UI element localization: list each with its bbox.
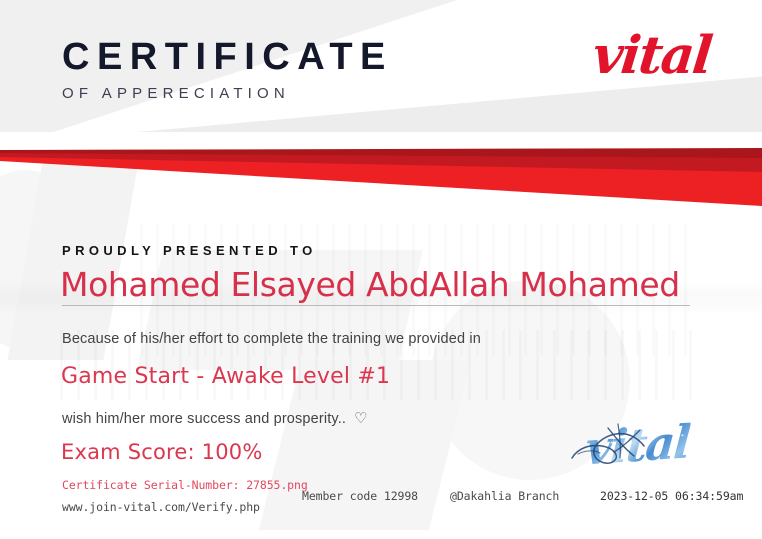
certificate-page: CERTIFICATE OF APPERECIATION vital PROUD… bbox=[0, 0, 762, 539]
handwritten-signature-icon bbox=[556, 414, 726, 488]
wish-text-row: wish him/her more success and prosperity… bbox=[62, 411, 368, 427]
exam-score: Exam Score: 100% bbox=[61, 440, 263, 464]
course-name: Game Start - Awake Level #1 bbox=[61, 364, 390, 389]
recipient-name: Mohamed Elsayed AbdAllah Mohamed bbox=[60, 267, 680, 303]
branch-name: @Dakahlia Branch bbox=[450, 489, 559, 503]
certificate-serial-number: Certificate Serial-Number: 27855.png bbox=[62, 478, 308, 492]
recipient-name-underline bbox=[62, 305, 690, 306]
signature-stamp-group: vital bbox=[556, 414, 726, 488]
certificate-body: PROUDLY PRESENTED TO Mohamed Elsayed Abd… bbox=[0, 0, 762, 539]
verify-url[interactable]: www.join-vital.com/Verify.php bbox=[62, 500, 260, 514]
presented-to-label: PROUDLY PRESENTED TO bbox=[62, 243, 317, 258]
issue-date: 2023-12-05 06:34:59am bbox=[600, 489, 743, 503]
wish-text: wish him/her more success and prosperity… bbox=[62, 411, 346, 427]
member-code: Member code 12998 bbox=[302, 489, 418, 503]
reason-text: Because of his/her effort to complete th… bbox=[62, 331, 481, 347]
heart-icon: ♡ bbox=[354, 411, 368, 426]
